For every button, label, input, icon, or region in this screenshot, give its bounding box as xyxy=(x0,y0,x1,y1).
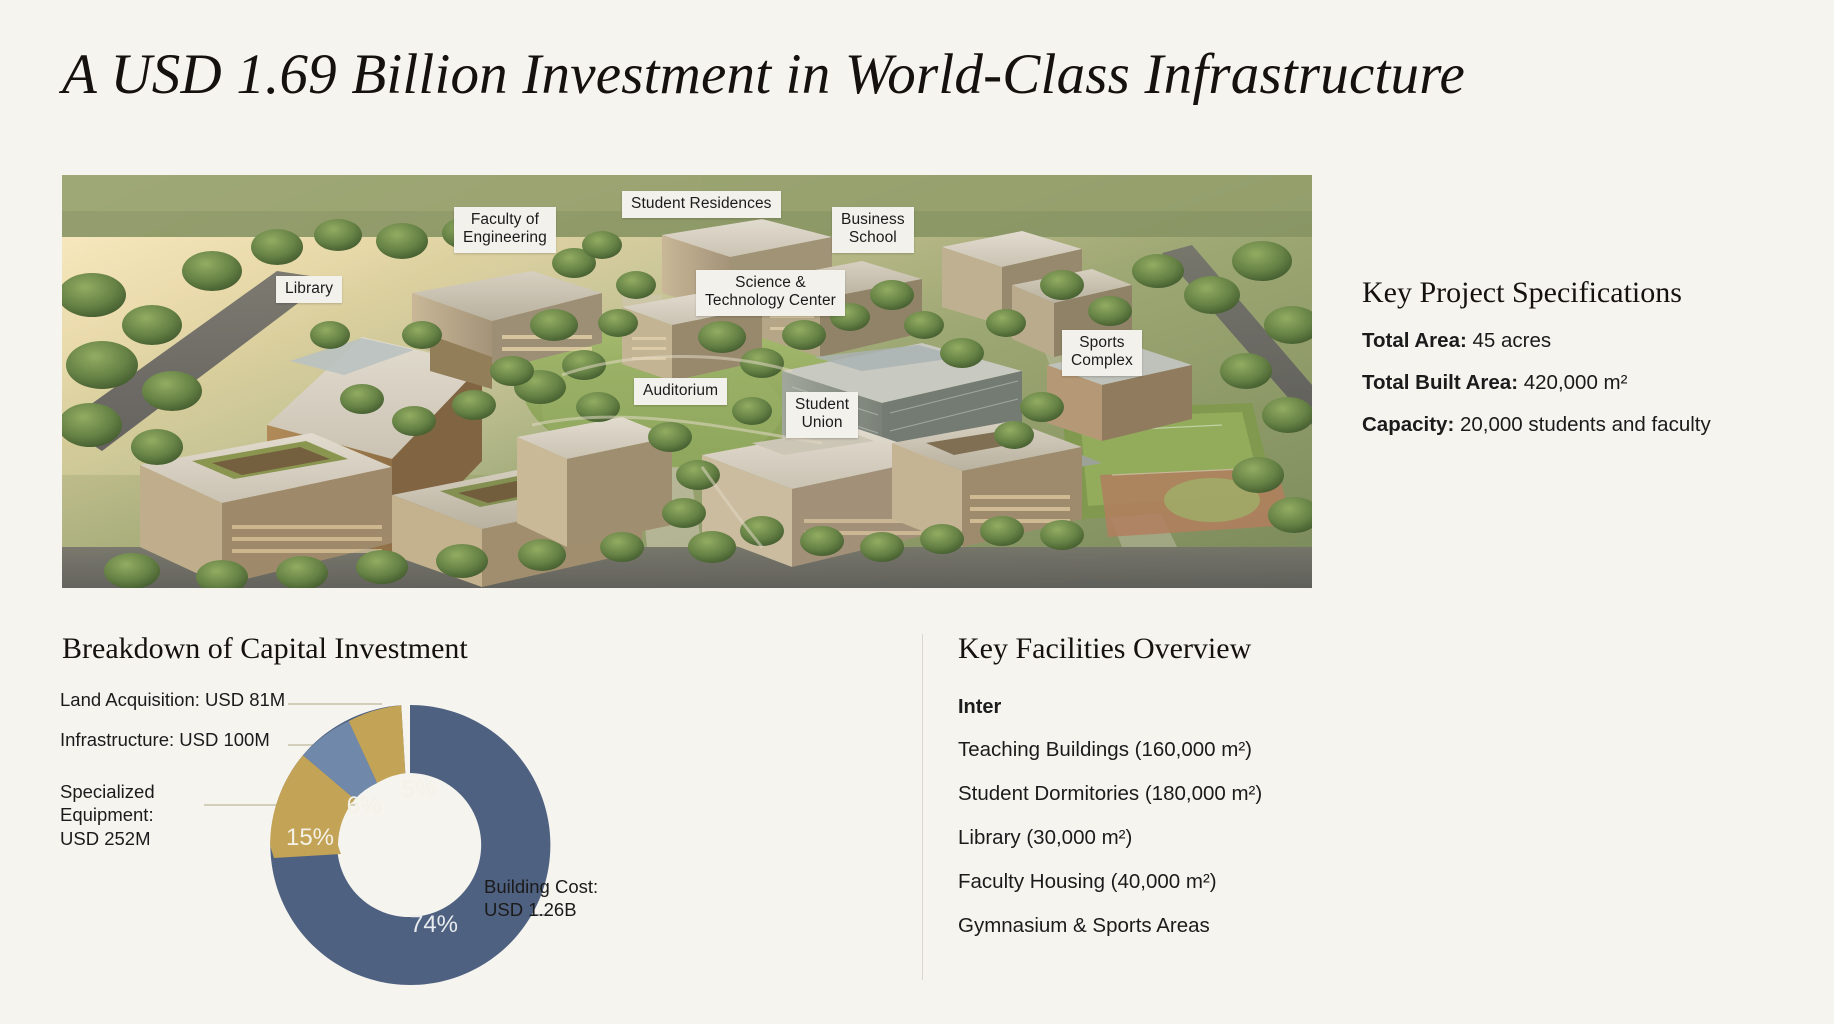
map-label-science-technology-center: Science & Technology Center xyxy=(696,270,845,316)
spec-label-total-area: Total Area: xyxy=(1362,329,1467,352)
donut-label-land-acquisition: Land Acquisition: USD 81M xyxy=(60,688,285,711)
section-divider xyxy=(922,634,923,980)
facility-item-student-dormitories: Student Dormitories (180,000 m²) xyxy=(958,782,1438,806)
donut-value-land-acquisition: 5% xyxy=(402,776,437,803)
key-facilities-list: Inter Teaching Buildings (160,000 m²) St… xyxy=(958,696,1438,958)
facilities-heading: Key Facilities Overview xyxy=(958,632,1251,666)
map-label-auditorium: Auditorium xyxy=(634,378,727,405)
facilities-subheading: Inter xyxy=(958,696,1438,719)
specs-heading: Key Project Specifications xyxy=(1362,276,1802,310)
donut-value-specialized-equipment: 15% xyxy=(286,824,334,851)
donut-label-building-cost: Building Cost: USD 1.26B xyxy=(484,875,598,922)
map-label-student-residences: Student Residences xyxy=(622,191,781,218)
campus-aerial-image: Student Residences Faculty of Engineerin… xyxy=(62,175,1312,588)
map-label-student-union: Student Union xyxy=(786,392,858,438)
spec-value-total-area: 45 acres xyxy=(1473,329,1552,352)
donut-label-specialized-equipment: Specialized Equipment: USD 252M xyxy=(60,780,155,850)
spec-row-capacity: Capacity: 20,000 students and faculty xyxy=(1362,413,1802,437)
spec-row-total-area: Total Area: 45 acres xyxy=(1362,329,1802,353)
map-label-library: Library xyxy=(276,276,342,303)
facility-item-library: Library (30,000 m²) xyxy=(958,826,1438,850)
map-label-faculty-of-engineering: Faculty of Engineering xyxy=(454,207,556,253)
donut-value-building-cost: 74% xyxy=(410,911,458,938)
map-label-sports-complex: Sports Complex xyxy=(1062,330,1142,376)
facility-item-gymnasium-sports-areas: Gymnasium & Sports Areas xyxy=(958,914,1438,938)
capital-investment-donut-chart: 5% 6% 15% 74% Land Acquisition: USD 81M … xyxy=(52,680,882,1000)
slide-root: A USD 1.69 Billion Investment in World-C… xyxy=(0,0,1834,1024)
donut-value-infrastructure: 6% xyxy=(347,792,382,819)
spec-row-total-built-area: Total Built Area: 420,000 m² xyxy=(1362,371,1802,395)
map-label-business-school: Business School xyxy=(832,207,914,253)
spec-label-total-built-area: Total Built Area: xyxy=(1362,371,1518,394)
page-title: A USD 1.69 Billion Investment in World-C… xyxy=(62,42,1465,107)
investment-heading: Breakdown of Capital Investment xyxy=(62,632,468,666)
key-project-specifications: Key Project Specifications Total Area: 4… xyxy=(1362,276,1802,455)
spec-label-capacity: Capacity: xyxy=(1362,413,1454,436)
donut-label-infrastructure: Infrastructure: USD 100M xyxy=(60,728,270,751)
spec-value-capacity: 20,000 students and faculty xyxy=(1460,413,1711,436)
facility-item-faculty-housing: Faculty Housing (40,000 m²) xyxy=(958,870,1438,894)
spec-value-total-built-area: 420,000 m² xyxy=(1524,371,1628,394)
facility-item-teaching-buildings: Teaching Buildings (160,000 m²) xyxy=(958,738,1438,762)
